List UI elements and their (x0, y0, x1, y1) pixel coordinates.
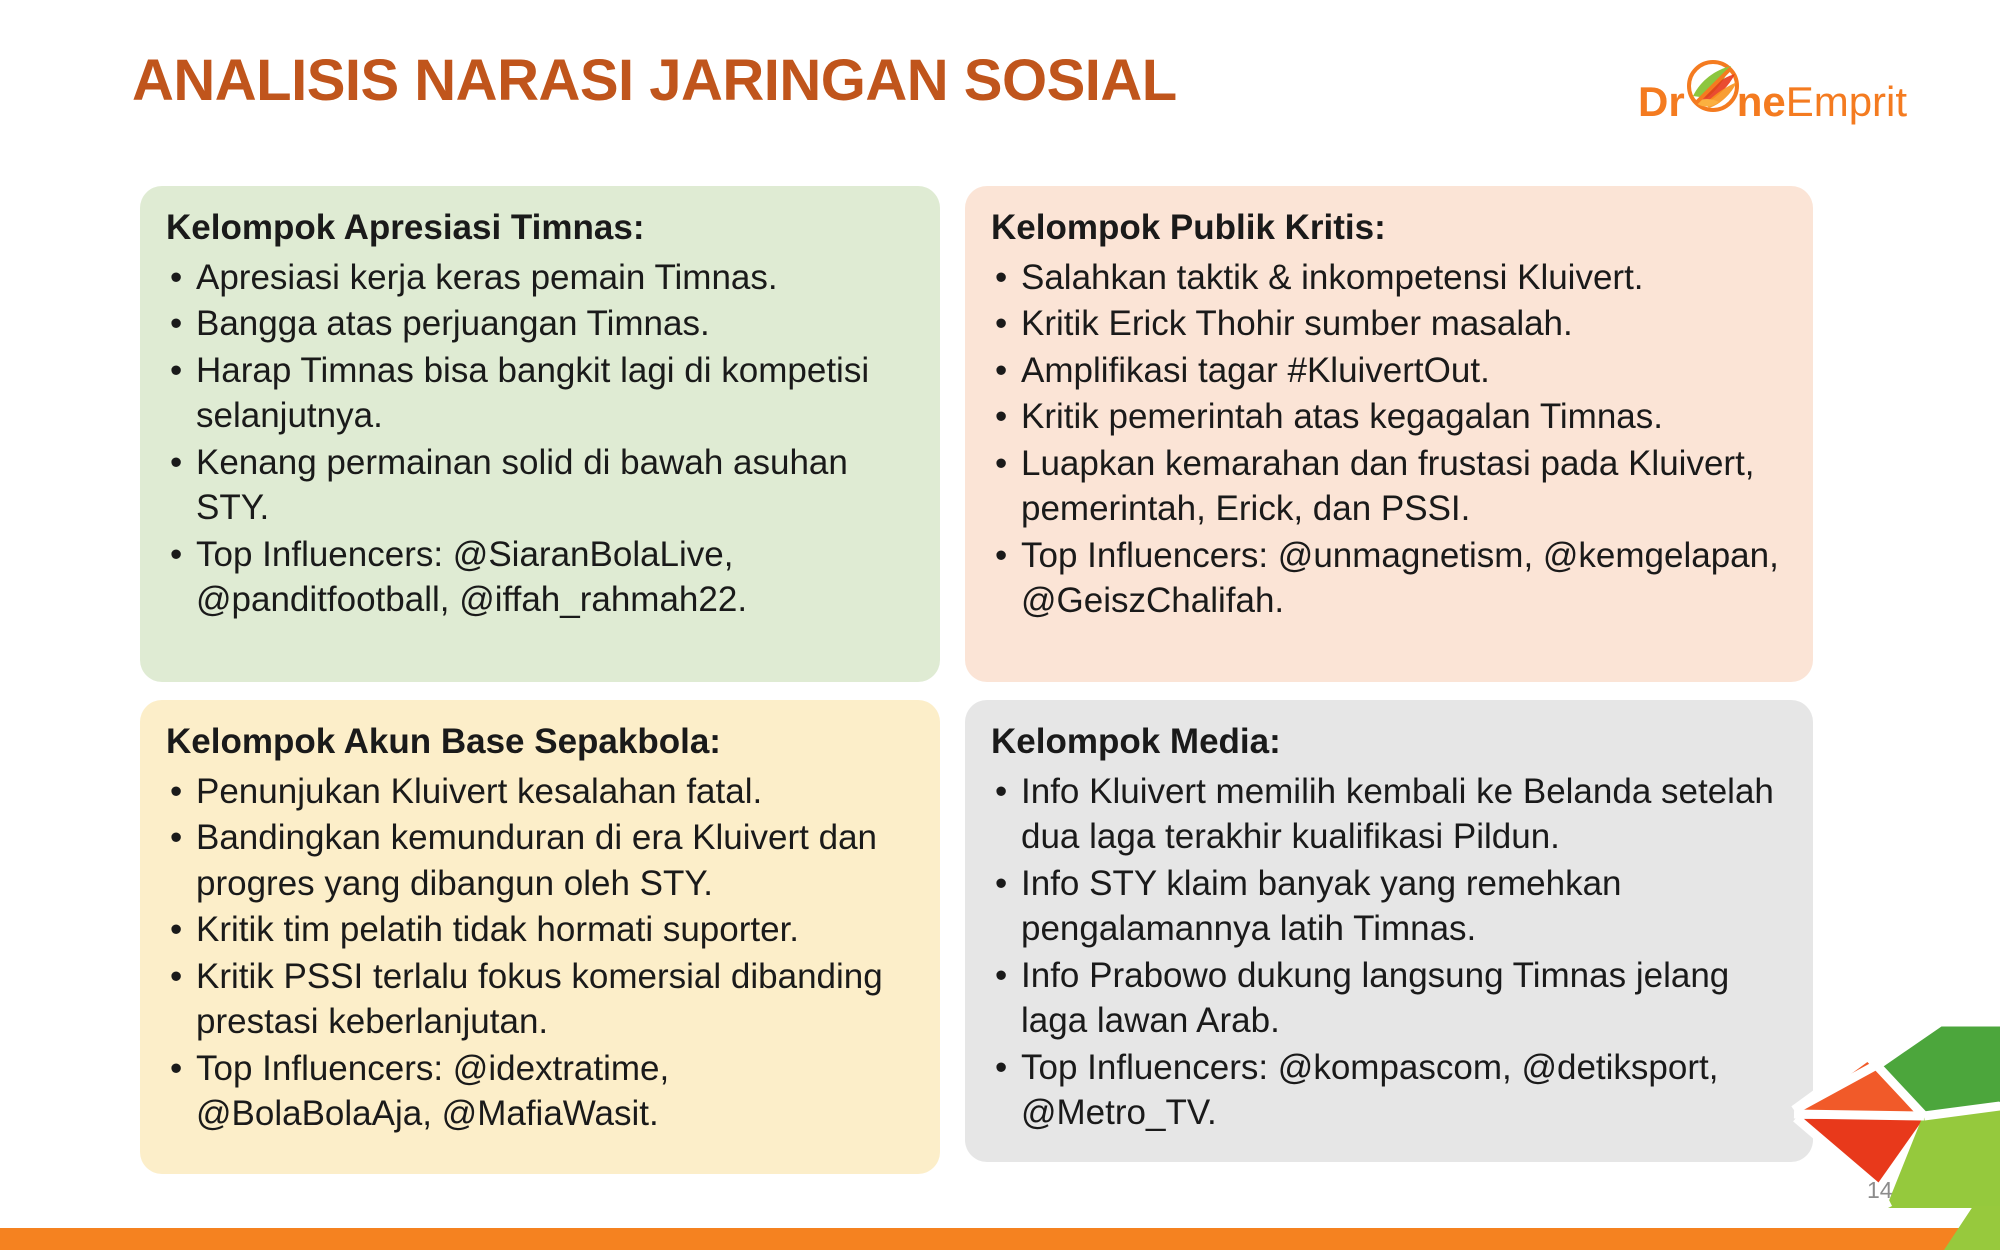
list-item-text: Kritik pemerintah atas kegagalan Timnas. (1021, 397, 1663, 436)
card-title: Kelompok Publik Kritis: (991, 206, 1787, 251)
list-item-text: Kenang permainan solid di bawah asuhan S… (196, 443, 848, 528)
bullet-icon: • (170, 532, 182, 578)
list-item: •Kritik tim pelatih tidak hormati suport… (166, 907, 914, 953)
list-item: •Kenang permainan solid di bawah asuhan … (166, 440, 914, 531)
list-item-text: Kritik Erick Thohir sumber masalah. (1021, 304, 1573, 343)
list-item: •Salahkan taktik & inkompetensi Kluivert… (991, 255, 1787, 301)
bottom-bar (0, 1228, 2000, 1250)
decorative-fan-graphic (1790, 1018, 2000, 1208)
bullet-icon: • (170, 348, 182, 394)
list-item-text: Bandingkan kemunduran di era Kluivert da… (196, 818, 877, 903)
logo-bird-icon (1685, 74, 1737, 116)
card-apresiasi-timnas: Kelompok Apresiasi Timnas: •Apresiasi ke… (140, 186, 940, 682)
list-item: •Harap Timnas bisa bangkit lagi di kompe… (166, 348, 914, 439)
list-item: •Luapkan kemarahan dan frustasi pada Klu… (991, 441, 1787, 532)
list-item: •Bandingkan kemunduran di era Kluivert d… (166, 815, 914, 906)
list-item: •Top Influencers: @idextratime, @BolaBol… (166, 1046, 914, 1137)
list-item-text: Info Kluivert memilih kembali ke Belanda… (1021, 772, 1774, 857)
list-item: •Top Influencers: @SiaranBolaLive, @pand… (166, 532, 914, 623)
list-item-text: Bangga atas perjuangan Timnas. (196, 304, 710, 343)
page-title: ANALISIS NARASI JARINGAN SOSIAL (132, 47, 1177, 114)
bullet-icon: • (995, 861, 1007, 907)
list-item: •Kritik pemerintah atas kegagalan Timnas… (991, 394, 1787, 440)
list-item: •Amplifikasi tagar #KluivertOut. (991, 348, 1787, 394)
list-item: •Info Kluivert memilih kembali ke Beland… (991, 769, 1787, 860)
bullet-icon: • (995, 255, 1007, 301)
bullet-icon: • (170, 440, 182, 486)
bullet-icon: • (995, 394, 1007, 440)
bullet-icon: • (995, 1045, 1007, 1091)
list-item-text: Top Influencers: @SiaranBolaLive, @pandi… (196, 535, 747, 620)
card-title: Kelompok Media: (991, 720, 1787, 765)
bullet-icon: • (995, 348, 1007, 394)
list-item: •Info STY klaim banyak yang remehkan pen… (991, 861, 1787, 952)
drone-emprit-logo: Dr ne Emprit (1638, 68, 1907, 128)
logo-text-dr: Dr (1638, 81, 1685, 123)
bullet-icon: • (170, 954, 182, 1000)
card-publik-kritis: Kelompok Publik Kritis: •Salahkan taktik… (965, 186, 1813, 682)
logo-text-emprit: Emprit (1786, 81, 1907, 123)
card-bullet-list: •Penunjukan Kluivert kesalahan fatal. •B… (166, 769, 914, 1137)
list-item: •Apresiasi kerja keras pemain Timnas. (166, 255, 914, 301)
bullet-icon: • (995, 953, 1007, 999)
bullet-icon: • (170, 815, 182, 861)
logo-wordmark: Dr ne Emprit (1638, 74, 1907, 123)
list-item: •Bangga atas perjuangan Timnas. (166, 301, 914, 347)
card-media: Kelompok Media: •Info Kluivert memilih k… (965, 700, 1813, 1162)
list-item: •Kritik PSSI terlalu fokus komersial dib… (166, 954, 914, 1045)
list-item-text: Kritik PSSI terlalu fokus komersial diba… (196, 957, 883, 1042)
list-item: •Top Influencers: @unmagnetism, @kemgela… (991, 533, 1787, 624)
list-item-text: Penunjukan Kluivert kesalahan fatal. (196, 772, 762, 811)
list-item-text: Harap Timnas bisa bangkit lagi di kompet… (196, 351, 869, 436)
list-item: •Top Influencers: @kompascom, @detikspor… (991, 1045, 1787, 1136)
list-item-text: Kritik tim pelatih tidak hormati suporte… (196, 910, 799, 949)
page-number: 14 (1867, 1177, 1893, 1204)
bullet-icon: • (995, 301, 1007, 347)
card-title: Kelompok Apresiasi Timnas: (166, 206, 914, 251)
list-item-text: Amplifikasi tagar #KluivertOut. (1021, 351, 1490, 390)
list-item-text: Salahkan taktik & inkompetensi Kluivert. (1021, 258, 1644, 297)
list-item-text: Top Influencers: @unmagnetism, @kemgelap… (1021, 536, 1779, 621)
card-bullet-list: •Info Kluivert memilih kembali ke Beland… (991, 769, 1787, 1136)
list-item-text: Info STY klaim banyak yang remehkan peng… (1021, 864, 1622, 949)
bullet-icon: • (995, 441, 1007, 487)
list-item-text: Info Prabowo dukung langsung Timnas jela… (1021, 956, 1729, 1041)
list-item-text: Top Influencers: @idextratime, @BolaBola… (196, 1049, 669, 1134)
list-item-text: Luapkan kemarahan dan frustasi pada Klui… (1021, 444, 1755, 529)
card-bullet-list: •Salahkan taktik & inkompetensi Kluivert… (991, 255, 1787, 624)
bullet-icon: • (995, 769, 1007, 815)
bullet-icon: • (170, 769, 182, 815)
list-item: •Info Prabowo dukung langsung Timnas jel… (991, 953, 1787, 1044)
bullet-icon: • (170, 255, 182, 301)
list-item: •Kritik Erick Thohir sumber masalah. (991, 301, 1787, 347)
card-akun-base-sepakbola: Kelompok Akun Base Sepakbola: •Penunjuka… (140, 700, 940, 1174)
card-bullet-list: •Apresiasi kerja keras pemain Timnas. •B… (166, 255, 914, 623)
bullet-icon: • (170, 301, 182, 347)
slide-canvas: ANALISIS NARASI JARINGAN SOSIAL Dr ne Em… (0, 0, 2000, 1250)
list-item-text: Apresiasi kerja keras pemain Timnas. (196, 258, 778, 297)
card-title: Kelompok Akun Base Sepakbola: (166, 720, 914, 765)
bullet-icon: • (170, 1046, 182, 1092)
bullet-icon: • (995, 533, 1007, 579)
list-item: •Penunjukan Kluivert kesalahan fatal. (166, 769, 914, 815)
list-item-text: Top Influencers: @kompascom, @detiksport… (1021, 1048, 1718, 1133)
bullet-icon: • (170, 907, 182, 953)
